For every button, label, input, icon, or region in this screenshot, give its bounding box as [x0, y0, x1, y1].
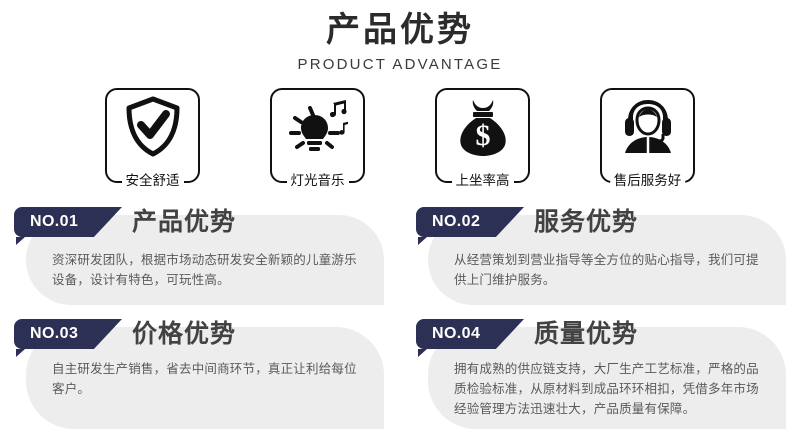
- page-header: 产品优势 PRODUCT ADVANTAGE: [0, 0, 800, 75]
- feature-box-light-music[interactable]: 灯光音乐: [270, 88, 365, 183]
- feature-icon-row: 安全舒适: [0, 88, 800, 183]
- badge-label: NO.01: [14, 213, 78, 231]
- card-heading: 价格优势: [132, 317, 236, 351]
- badge-label: NO.03: [14, 325, 78, 343]
- badge-label: NO.02: [416, 213, 480, 231]
- svg-text:$: $: [475, 119, 490, 152]
- card-body-text: 从经营策划到营业指导等全方位的贴心指导，我们可提供上门维护服务。: [454, 250, 764, 290]
- advantage-card-01: NO.01 产品优势 资深研发团队，根据市场动态研发安全新颖的儿童游乐设备，设计…: [14, 205, 384, 305]
- shield-check-icon: [107, 94, 198, 160]
- feature-label: 灯光音乐: [287, 172, 349, 190]
- feature-box-safety[interactable]: 安全舒适: [105, 88, 200, 183]
- badge-label: NO.04: [416, 325, 480, 343]
- card-heading: 质量优势: [534, 317, 638, 351]
- advantage-card-02: NO.02 服务优势 从经营策划到营业指导等全方位的贴心指导，我们可提供上门维护…: [416, 205, 786, 305]
- badge-tail: [16, 349, 25, 357]
- card-body-text: 拥有成熟的供应链支持，大厂生产工艺标准，严格的品质检验标准，从原材料到成品环环相…: [454, 359, 764, 419]
- card-body-text: 自主研发生产销售，省去中间商环节，真正让利给每位客户。: [52, 359, 362, 399]
- money-bag-icon: $: [437, 94, 528, 160]
- feature-box-occupancy[interactable]: $ 上坐率高: [435, 88, 530, 183]
- card-heading: 产品优势: [132, 205, 236, 239]
- card-body-text: 资深研发团队，根据市场动态研发安全新颖的儿童游乐设备，设计有特色，可玩性高。: [52, 250, 362, 290]
- lightbulb-music-icon: [272, 94, 363, 160]
- badge-tail: [418, 349, 427, 357]
- page-subtitle: PRODUCT ADVANTAGE: [0, 55, 800, 75]
- advantage-card-grid: NO.01 产品优势 资深研发团队，根据市场动态研发安全新颖的儿童游乐设备，设计…: [0, 205, 800, 429]
- customer-service-icon: [602, 94, 693, 160]
- advantage-card-03: NO.03 价格优势 自主研发生产销售，省去中间商环节，真正让利给每位客户。: [14, 317, 384, 429]
- badge-tail: [418, 237, 427, 245]
- page-title: 产品优势: [0, 8, 800, 52]
- card-heading: 服务优势: [534, 205, 638, 239]
- feature-label: 售后服务好: [610, 172, 686, 190]
- feature-label: 安全舒适: [122, 172, 184, 190]
- advantage-card-04: NO.04 质量优势 拥有成熟的供应链支持，大厂生产工艺标准，严格的品质检验标准…: [416, 317, 786, 429]
- badge-tail: [16, 237, 25, 245]
- feature-box-after-sales[interactable]: 售后服务好: [600, 88, 695, 183]
- feature-label: 上坐率高: [452, 172, 514, 190]
